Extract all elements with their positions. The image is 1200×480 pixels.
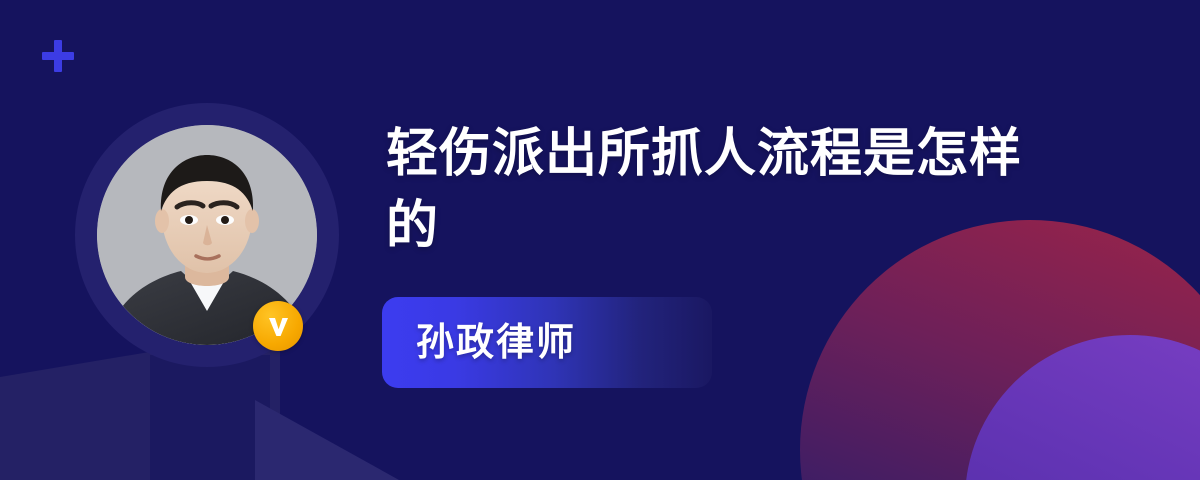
- decor-polygon-left-column: [150, 355, 270, 480]
- lawyer-name-chip[interactable]: 孙政律师: [382, 297, 712, 388]
- page-title: 轻伤派出所抓人流程是怎样的: [386, 118, 1046, 262]
- verified-badge-icon: [253, 301, 303, 351]
- decor-polygon-left-triangle: [255, 400, 435, 480]
- lawyer-name-label: 孙政律师: [416, 324, 576, 362]
- lawyer-question-banner: 轻伤派出所抓人流程是怎样的 孙政律师: [0, 0, 1200, 480]
- plus-icon: [42, 40, 74, 72]
- avatar[interactable]: [75, 103, 339, 367]
- text-content: 轻伤派出所抓人流程是怎样的: [386, 118, 1126, 262]
